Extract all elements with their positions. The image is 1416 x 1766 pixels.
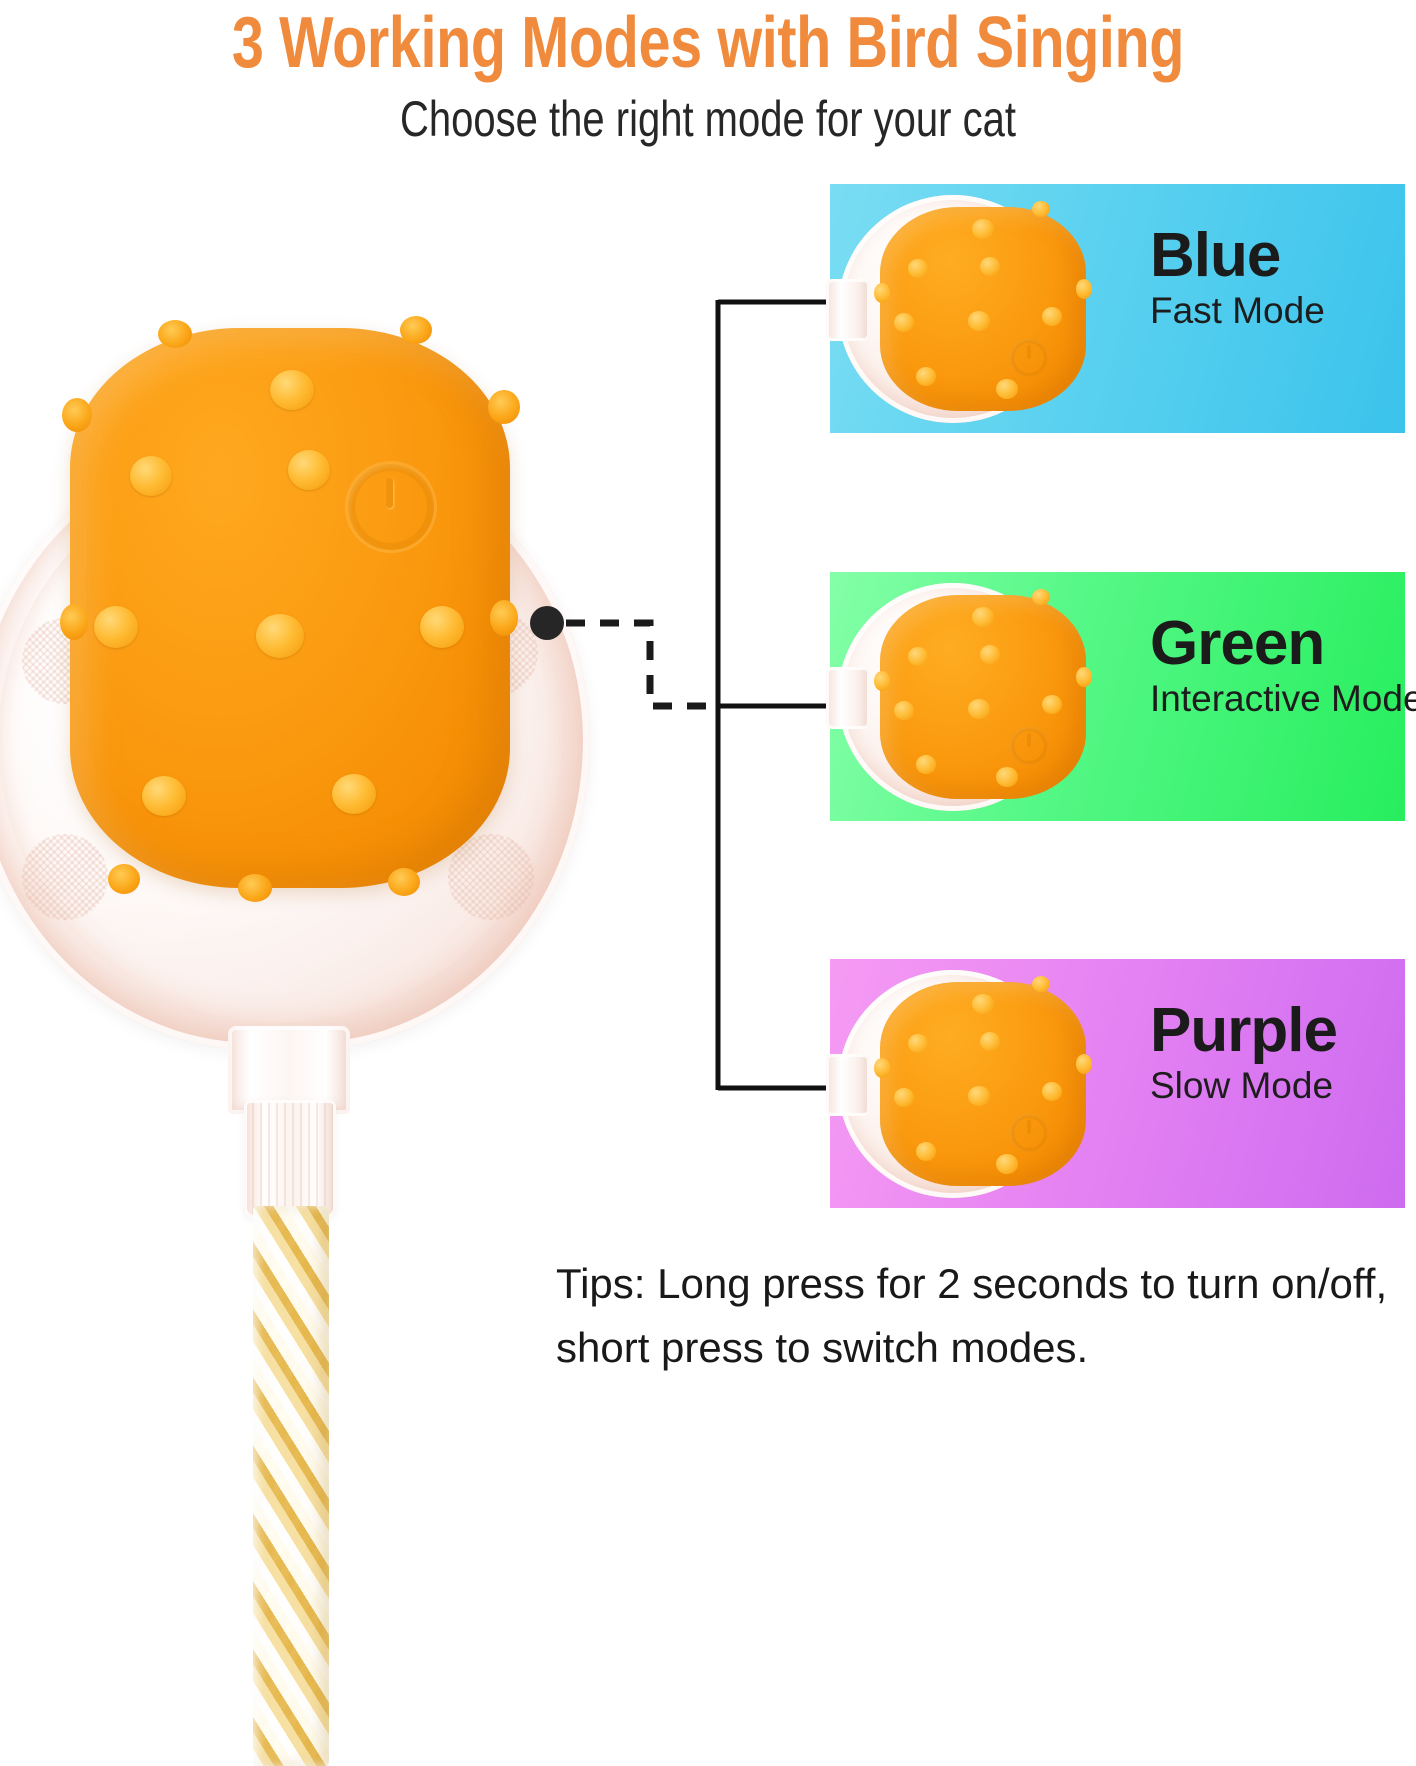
tips-text: Tips: Long press for 2 seconds to turn o… — [556, 1252, 1406, 1380]
speaker-mesh-icon — [22, 834, 108, 920]
mode-card-purple[interactable]: Purple Slow Mode — [830, 959, 1405, 1208]
power-icon — [1010, 339, 1048, 377]
page-subtitle: Choose the right mode for your cat — [142, 92, 1275, 147]
mode-card-blue[interactable]: Blue Fast Mode — [830, 184, 1405, 433]
power-icon — [1010, 1114, 1048, 1152]
product-braided-rod — [253, 1206, 329, 1766]
mode-card-purple-text: Purple Slow Mode — [1150, 999, 1400, 1107]
mode-name: Blue — [1150, 224, 1400, 287]
mode-name: Green — [1150, 612, 1400, 675]
thumb-orange-cover — [880, 207, 1086, 411]
mode-name: Purple — [1150, 999, 1400, 1062]
thumb-orange-cover — [880, 982, 1086, 1186]
mode-card-green[interactable]: Green Interactive Mode — [830, 572, 1405, 821]
product-thumbnail-green — [838, 575, 1138, 818]
tips-line-2: short press to switch modes. — [556, 1316, 1406, 1380]
thumb-side-button — [826, 1054, 870, 1116]
mode-card-green-text: Green Interactive Mode — [1150, 612, 1400, 720]
product-thumbnail-blue — [838, 187, 1138, 430]
power-icon — [1010, 727, 1048, 765]
mode-description: Interactive Mode — [1150, 679, 1400, 720]
mode-description: Fast Mode — [1150, 291, 1400, 332]
orange-silicone-cover — [70, 328, 510, 888]
thumb-side-button — [826, 667, 870, 729]
mode-card-blue-text: Blue Fast Mode — [1150, 224, 1400, 332]
product-thumbnail-purple — [838, 962, 1138, 1205]
tips-line-1: Tips: Long press for 2 seconds to turn o… — [556, 1252, 1406, 1316]
power-icon — [348, 464, 434, 550]
page-title: 3 Working Modes with Bird Singing — [142, 6, 1275, 82]
product-collar — [244, 1100, 336, 1218]
mode-description: Slow Mode — [1150, 1066, 1400, 1107]
thumb-side-button — [826, 279, 870, 341]
infographic-canvas: 3 Working Modes with Bird Singing Choose… — [0, 0, 1416, 1447]
thumb-orange-cover — [880, 595, 1086, 799]
speaker-mesh-icon — [448, 834, 534, 920]
